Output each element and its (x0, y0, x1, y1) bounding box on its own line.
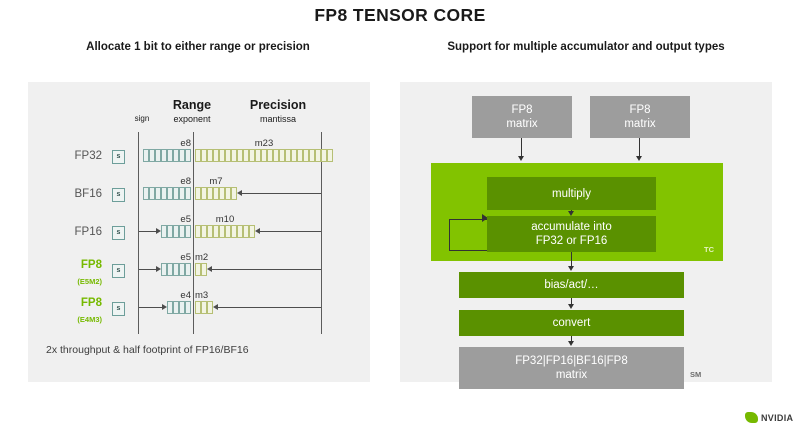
exponent-bitfield: e5 (161, 225, 191, 238)
left-section-heading: Allocate 1 bit to either range or precis… (28, 41, 368, 53)
arrow-a-to-tc (521, 138, 522, 157)
right-section-heading: Support for multiple accumulator and out… (400, 41, 772, 53)
arrow-convert-to-output-head (568, 341, 574, 346)
sign-bit-cell: s (112, 188, 125, 202)
format-label: FP16 (34, 226, 102, 238)
exponent-shrink-arrow-head (156, 228, 161, 234)
mantissa-shrink-arrow-head (237, 190, 242, 196)
format-row: FP16se5m10 (28, 220, 370, 254)
page-title: FP8 TENSOR CORE (0, 5, 800, 26)
exponent-shrink-arrow-head (162, 304, 167, 310)
dataflow-diagram: FP8matrix FP8matrix TC multiply accumula… (400, 82, 772, 382)
sign-bit-cell: s (112, 226, 125, 240)
bias-activation-box: bias/act/… (459, 272, 684, 298)
nvidia-wordmark: NVIDIA (761, 413, 793, 423)
exponent-bitfield: e4 (167, 301, 191, 314)
exponent-tag: e8 (180, 138, 191, 149)
sign-bit-cell: s (112, 302, 125, 316)
exponent-tag: e4 (180, 290, 191, 301)
tc-label: TC (704, 243, 714, 257)
arrow-b-to-tc-head (636, 156, 642, 161)
slide-root: FP8 TENSOR CORE Allocate 1 bit to either… (0, 0, 800, 437)
exponent-tag: e5 (180, 252, 191, 263)
format-label: FP32 (34, 150, 102, 162)
sm-label: SM (690, 370, 701, 379)
exponent-shrink-connector (139, 307, 162, 308)
exponent-shrink-connector (139, 231, 156, 232)
mantissa-bitfield: m2 (195, 263, 207, 276)
mantissa-bitfield: m7 (195, 187, 237, 200)
format-row: BF16se8m7 (28, 182, 370, 216)
mantissa-bit (327, 149, 333, 162)
mantissa-bitfield: m23 (195, 149, 333, 162)
exponent-tag: e5 (180, 214, 191, 225)
format-row: FP8(E4M3)se4m3 (28, 296, 370, 330)
sign-bit-cell: s (112, 150, 125, 164)
exponent-bit (185, 263, 191, 276)
mantissa-shrink-connector (260, 231, 321, 232)
sign-bit-cell: s (112, 264, 125, 278)
arrow-b-to-tc (639, 138, 640, 157)
input-matrix-a-box: FP8matrix (472, 96, 572, 138)
mantissa-bitfield: m3 (195, 301, 213, 314)
exponent-tag: e8 (180, 176, 191, 187)
exponent-bit (185, 149, 191, 162)
bit-allocation-panel: sign Range exponent Precision mantissa F… (28, 82, 370, 382)
mantissa-tag: m23 (195, 138, 333, 149)
column-header-precision: Precision (233, 98, 323, 112)
format-row: FP8(E5M2)se5m2 (28, 258, 370, 292)
exponent-shrink-connector (139, 269, 156, 270)
column-header-exponent: exponent (152, 114, 232, 124)
exponent-bitfield: e8 (143, 149, 191, 162)
exponent-bit (185, 301, 191, 314)
input-matrix-b-box: FP8matrix (590, 96, 690, 138)
mantissa-shrink-connector (218, 307, 321, 308)
multiply-box: multiply (487, 177, 656, 210)
exponent-shrink-arrow-head (156, 266, 161, 272)
column-header-mantissa: mantissa (233, 114, 323, 124)
column-header-range: Range (156, 98, 228, 112)
exponent-bitfield: e5 (161, 263, 191, 276)
tensor-core-flow-panel: FP8matrix FP8matrix TC multiply accumula… (400, 82, 772, 382)
exponent-bit (185, 225, 191, 238)
format-sublabel: (E4M3) (34, 315, 102, 324)
mantissa-shrink-arrow-head (213, 304, 218, 310)
format-row: FP32se8m23 (28, 144, 370, 178)
arrow-tc-to-bias-head (568, 266, 574, 271)
bit-layout-chart: sign Range exponent Precision mantissa F… (28, 82, 370, 382)
arrow-bias-to-convert-head (568, 304, 574, 309)
mantissa-tag: m3 (195, 290, 208, 301)
mantissa-shrink-arrow-head (207, 266, 212, 272)
mantissa-tag: m2 (195, 252, 208, 263)
nvidia-eye-icon (745, 412, 758, 423)
accumulate-box: accumulate intoFP32 or FP16 (487, 216, 656, 252)
footnote-text: 2x throughput & half footprint of FP16/B… (46, 344, 366, 356)
arrow-tc-to-bias (571, 252, 572, 267)
exponent-bitfield: e8 (143, 187, 191, 200)
format-label: FP8 (34, 259, 102, 271)
exponent-bit (185, 187, 191, 200)
accumulate-feedback-loop (449, 219, 488, 251)
format-label: BF16 (34, 188, 102, 200)
format-sublabel: (E5M2) (34, 277, 102, 286)
mantissa-tag: m7 (195, 176, 237, 187)
mantissa-shrink-connector (212, 269, 321, 270)
output-matrix-box: FP32|FP16|BF16|FP8matrix (459, 347, 684, 389)
nvidia-logo: NVIDIA (745, 412, 793, 423)
mantissa-shrink-arrow-head (255, 228, 260, 234)
mantissa-shrink-connector (242, 193, 321, 194)
mantissa-bitfield: m10 (195, 225, 255, 238)
convert-box: convert (459, 310, 684, 336)
mantissa-tag: m10 (195, 214, 255, 225)
arrow-a-to-tc-head (518, 156, 524, 161)
format-label: FP8 (34, 297, 102, 309)
